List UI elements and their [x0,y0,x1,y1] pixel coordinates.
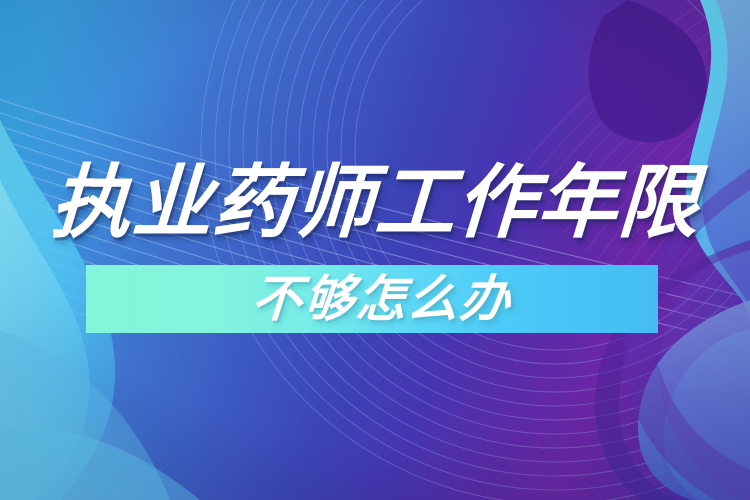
headline-container: 执业药师工作年限 [0,150,750,255]
banner-subtitle: 不够怎么办 [250,274,513,324]
banner-headline: 执业药师工作年限 [49,163,701,243]
promo-banner: 执业药师工作年限 不够怎么办 [0,0,750,500]
subtitle-bar: 不够怎么办 [86,265,658,333]
